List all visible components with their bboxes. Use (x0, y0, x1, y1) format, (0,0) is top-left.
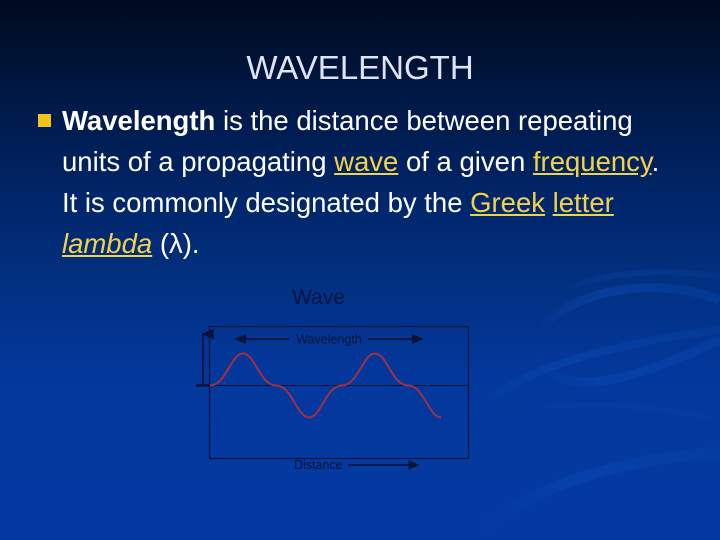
wavelength-label: Wavelength (296, 333, 362, 347)
wave-diagram-svg: Wavelength Distance (196, 286, 486, 486)
hyperlink-wave[interactable]: wave (334, 146, 398, 177)
bullet-list: Wavelength is the distance between repea… (38, 100, 682, 264)
bullet-segment-2: of a given (398, 146, 533, 177)
list-item: Wavelength is the distance between repea… (38, 100, 682, 264)
distance-label: Distance (294, 458, 343, 472)
hyperlink-lambda[interactable]: lambda (62, 228, 152, 259)
hyperlink-letter[interactable]: letter (553, 187, 614, 218)
hyperlink-frequency[interactable]: frequency (533, 146, 652, 177)
bullet-lead-term: Wavelength (62, 105, 215, 136)
slide-title: WAVELENGTH (0, 48, 720, 88)
hyperlink-greek[interactable]: Greek (470, 187, 545, 218)
square-bullet-icon (38, 114, 51, 127)
bullet-segment-4 (545, 187, 553, 218)
bullet-segment-6: (λ). (152, 228, 199, 259)
slide-canvas: WAVELENGTH Wavelength is the distance be… (0, 0, 720, 540)
bullet-paragraph: Wavelength is the distance between repea… (62, 100, 682, 264)
wave-diagram: Wave Waveleng (196, 286, 486, 486)
